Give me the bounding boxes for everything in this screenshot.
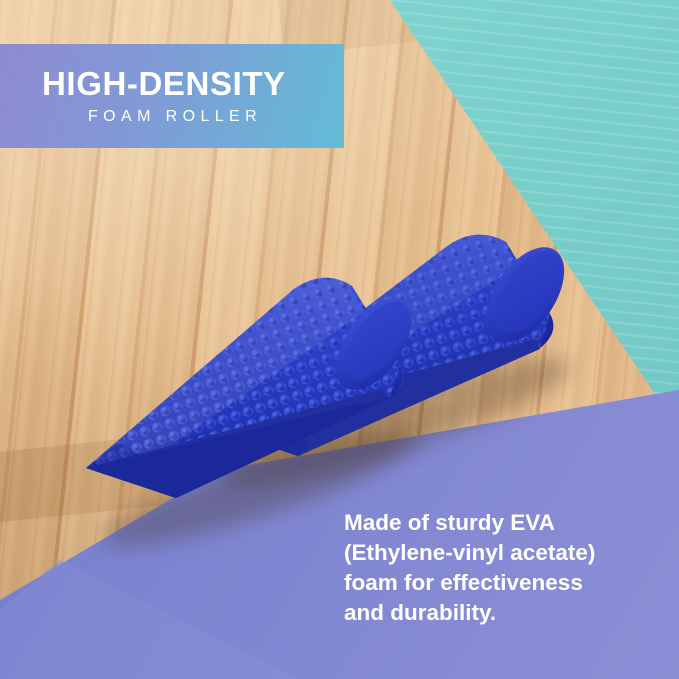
caption-line-3: foam for effectiveness xyxy=(344,568,644,598)
product-caption: Made of sturdy EVA (Ethylene-vinyl aceta… xyxy=(344,508,644,628)
header-banner: HIGH-DENSITY FOAM ROLLER xyxy=(0,44,344,148)
banner-title: HIGH-DENSITY xyxy=(42,67,344,100)
caption-line-2: (Ethylene-vinyl acetate) xyxy=(344,538,644,568)
caption-line-1: Made of sturdy EVA xyxy=(344,508,644,538)
caption-line-4: and durability. xyxy=(344,598,644,628)
product-lifestyle-image: HIGH-DENSITY FOAM ROLLER Made of sturdy … xyxy=(0,0,679,679)
banner-subtitle: FOAM ROLLER xyxy=(42,109,344,125)
foam-roller-front xyxy=(68,258,458,518)
